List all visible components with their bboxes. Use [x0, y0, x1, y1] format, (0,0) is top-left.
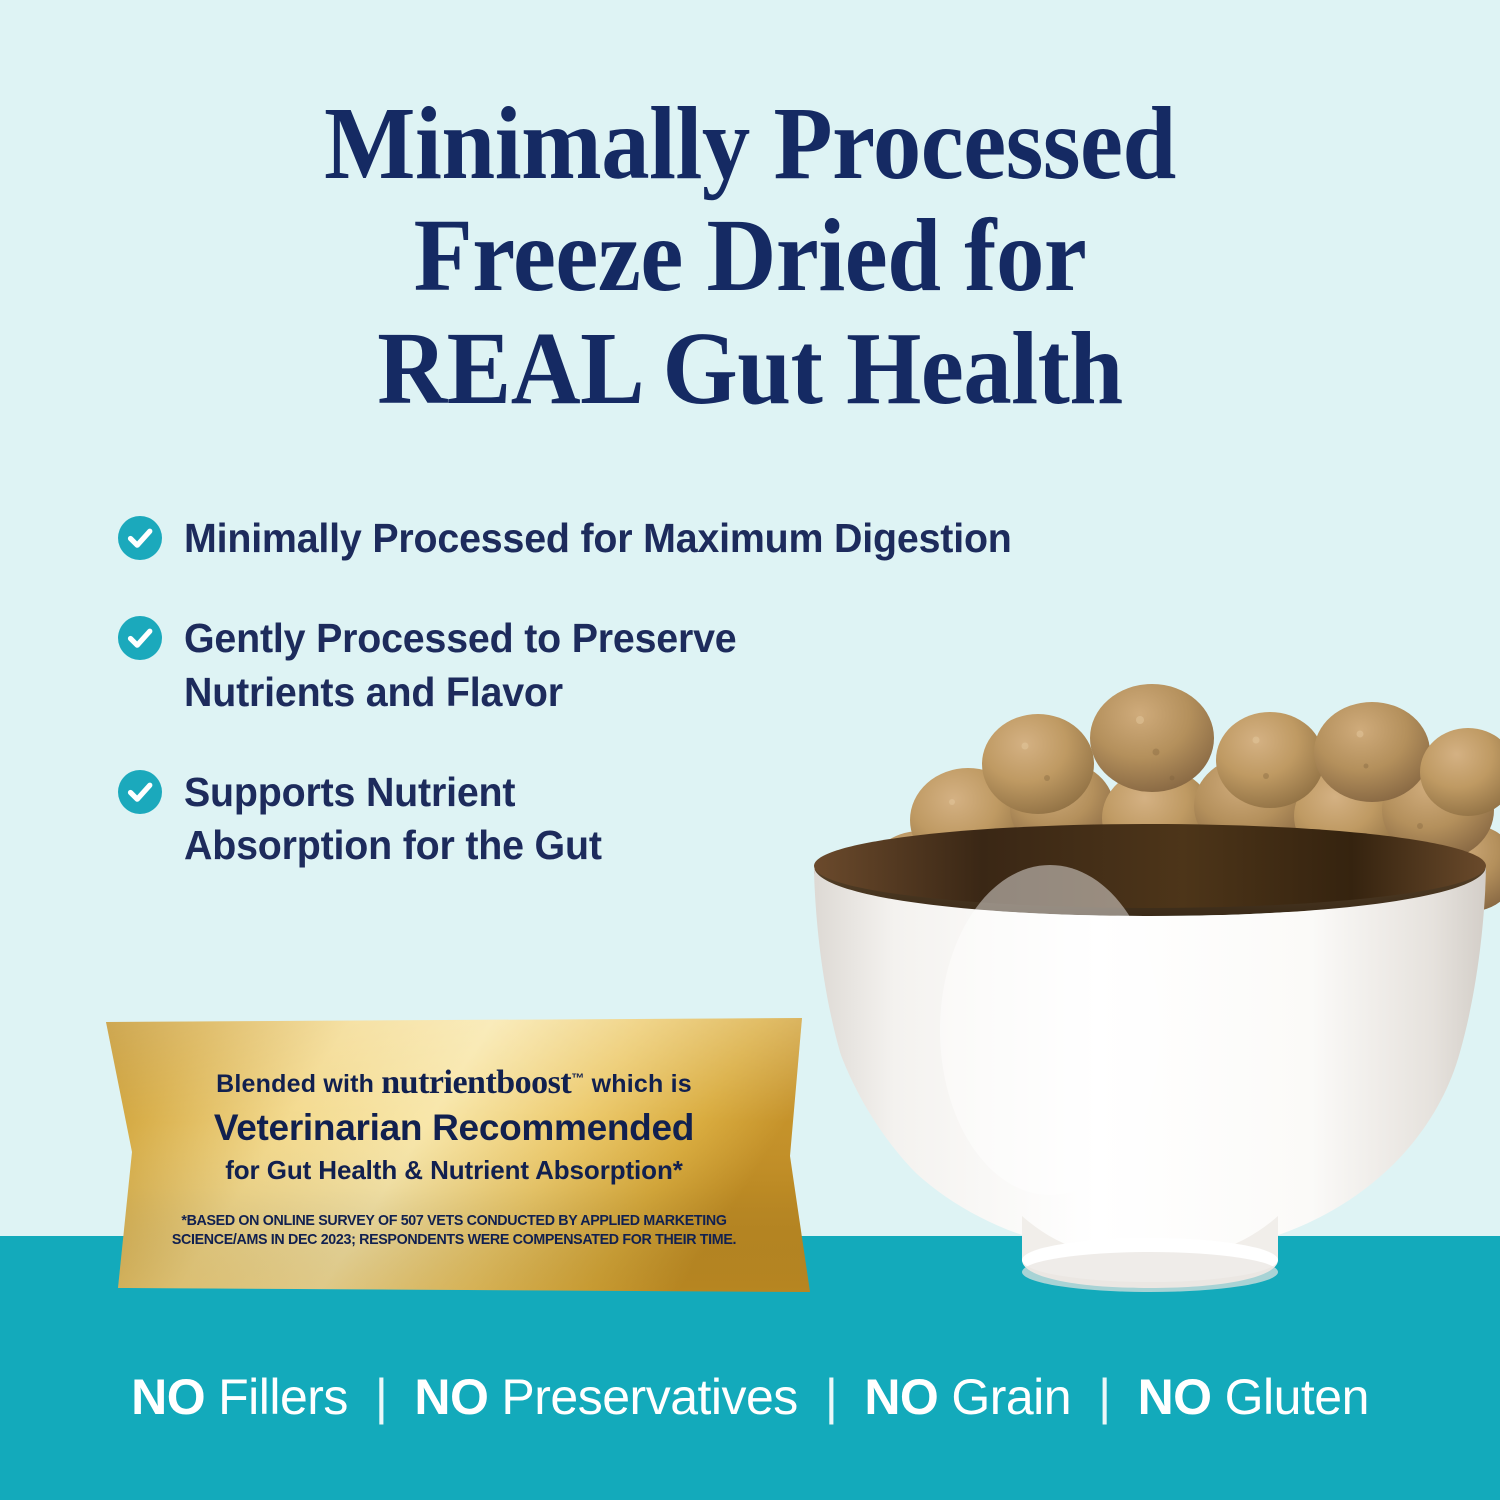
trademark-symbol: ™ [571, 1071, 584, 1086]
claim-separator: | [375, 1372, 388, 1422]
no-claims-strip: NOFillers | NOPreservatives | NOGrain | … [0, 1372, 1500, 1422]
check-circle-icon [118, 770, 162, 814]
claim-word: Gluten [1225, 1372, 1369, 1422]
claim-word: Fillers [218, 1372, 348, 1422]
headline-line-2: Freeze Dried for [53, 200, 1448, 312]
fine-print-line-2: SCIENCE/AMS IN DEC 2023; RESPONDENTS WER… [169, 1231, 739, 1250]
benefit-text: Minimally Processed for Maximum Digestio… [184, 512, 1012, 565]
check-circle-icon [118, 516, 162, 560]
banner-line-1: Blended with nutrientboost™ which is [154, 1064, 754, 1101]
claim-item: NOGluten [1138, 1372, 1369, 1422]
claim-item: NOGrain [864, 1372, 1071, 1422]
claim-emphasis: NO [414, 1372, 488, 1422]
claim-word: Preservatives [501, 1372, 797, 1422]
fine-print-line-1: *BASED ON ONLINE SURVEY OF 507 VETS COND… [169, 1212, 739, 1231]
claim-emphasis: NO [864, 1372, 938, 1422]
check-circle-icon [118, 616, 162, 660]
banner-prefix: Blended with [216, 1070, 381, 1098]
promo-image: Minimally Processed Freeze Dried for REA… [0, 0, 1500, 1500]
page-title: Minimally Processed Freeze Dried for REA… [53, 88, 1448, 425]
claim-word: Grain [951, 1372, 1071, 1422]
vet-recommended-banner: Blended with nutrientboost™ which is Vet… [98, 1016, 810, 1294]
claim-item: NOPreservatives [414, 1372, 797, 1422]
banner-fine-print: *BASED ON ONLINE SURVEY OF 507 VETS COND… [169, 1212, 739, 1250]
claim-item: NOFillers [131, 1372, 348, 1422]
claim-separator: | [825, 1372, 838, 1422]
benefit-text: Gently Processed to Preserve Nutrients a… [184, 612, 737, 719]
headline-line-1: Minimally Processed [53, 88, 1448, 200]
claim-separator: | [1098, 1372, 1111, 1422]
banner-subline: for Gut Health & Nutrient Absorption* [154, 1156, 754, 1186]
list-item: Supports Nutrient Absorption for the Gut [118, 766, 1278, 873]
list-item: Minimally Processed for Maximum Digestio… [118, 512, 1278, 565]
list-item: Gently Processed to Preserve Nutrients a… [118, 612, 1278, 719]
banner-suffix: which is [584, 1070, 691, 1098]
benefits-list: Minimally Processed for Maximum Digestio… [118, 512, 1278, 919]
headline-line-3: REAL Gut Health [53, 313, 1448, 425]
banner-headline: Veterinarian Recommended [154, 1107, 754, 1150]
claim-emphasis: NO [131, 1372, 205, 1422]
benefit-text: Supports Nutrient Absorption for the Gut [184, 766, 602, 873]
nutrientboost-wordmark: nutrientboost [381, 1064, 571, 1101]
claim-emphasis: NO [1138, 1372, 1212, 1422]
